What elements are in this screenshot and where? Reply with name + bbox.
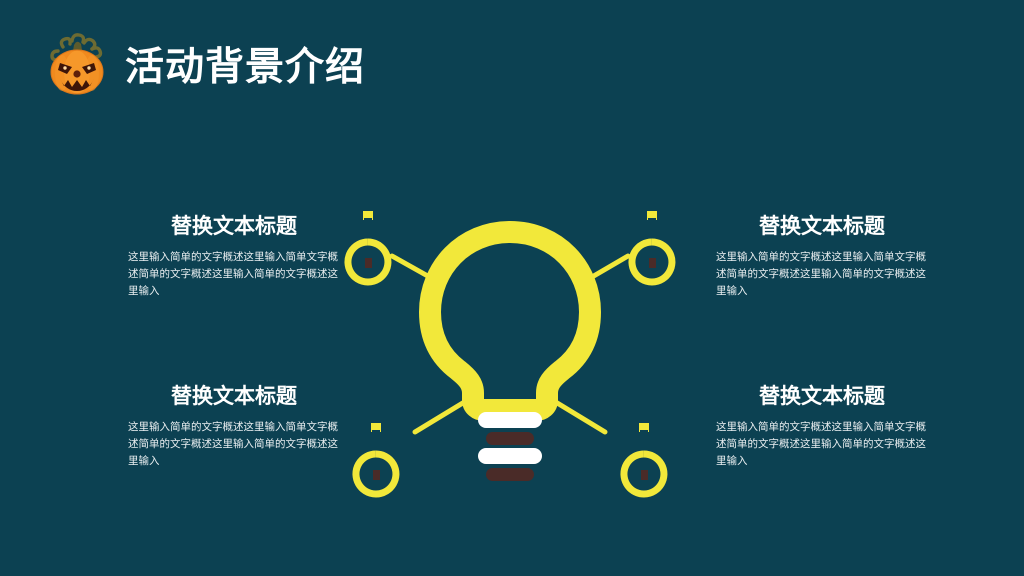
block-body: 这里输入简单的文字概述这里输入简单文字概述简单的文字概述这里输入简单的文字概述这… [128, 249, 340, 300]
block-title: 替换文本标题 [128, 382, 340, 410]
block-title: 替换文本标题 [716, 212, 928, 240]
slide-header: 活动背景介绍 [0, 0, 1024, 110]
content-block-top-left: 替换文本标题 这里输入简单的文字概述这里输入简单文字概述简单的文字概述这里输入简… [128, 212, 340, 300]
pumpkin-icon [41, 27, 113, 97]
block-body: 这里输入简单的文字概述这里输入简单文字概述简单的文字概述这里输入简单的文字概述这… [128, 419, 340, 470]
block-title: 替换文本标题 [716, 382, 928, 410]
content-block-top-right: 替换文本标题 这里输入简单的文字概述这里输入简单文字概述简单的文字概述这里输入简… [716, 212, 928, 300]
content-block-bottom-left: 替换文本标题 这里输入简单的文字概述这里输入简单文字概述简单的文字概述这里输入简… [128, 382, 340, 470]
ring-node-icon [632, 211, 672, 282]
ring-node-icon [624, 423, 664, 494]
block-body: 这里输入简单的文字概述这里输入简单文字概述简单的文字概述这里输入简单的文字概述这… [716, 419, 928, 470]
ring-node-icon [348, 211, 388, 282]
block-title: 替换文本标题 [128, 212, 340, 240]
ring-node-icon [356, 423, 396, 494]
page-title: 活动背景介绍 [125, 44, 365, 92]
block-body: 这里输入简单的文字概述这里输入简单文字概述简单的文字概述这里输入简单的文字概述这… [716, 249, 928, 300]
bulb-base-stripes [478, 412, 542, 481]
lightbulb-diagram [330, 200, 690, 500]
slide-canvas: 活动背景介绍 替换文本标题 这里输入简单的文字概述这里输入简单文字概述简单的文字… [0, 0, 1024, 576]
content-block-bottom-right: 替换文本标题 这里输入简单的文字概述这里输入简单文字概述简单的文字概述这里输入简… [716, 382, 928, 470]
lightbulb-icon [430, 232, 590, 410]
